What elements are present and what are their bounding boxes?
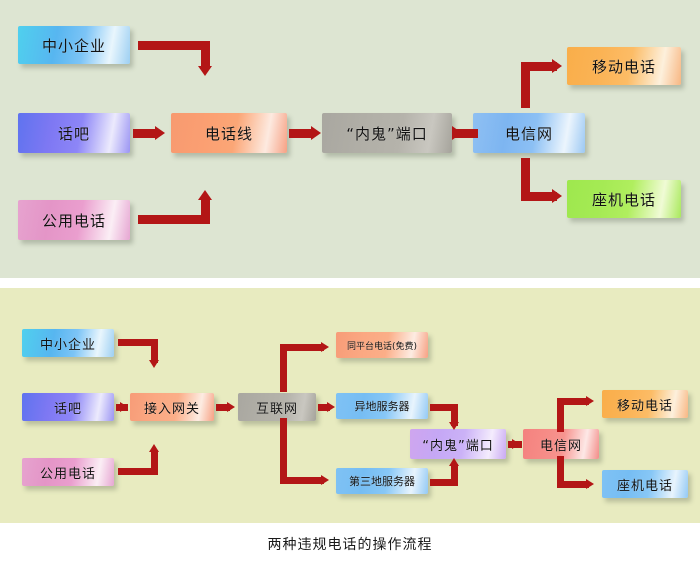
edge-huaba-to-gateway-arrow — [120, 402, 128, 412]
node-disandi-fuwuqi[interactable]: 第三地服务器 — [336, 468, 428, 494]
node-label: 电话线 — [205, 123, 253, 144]
node-yidongdianhua-bottom[interactable]: 移动电话 — [602, 390, 688, 418]
node-label: 公用电话 — [42, 210, 106, 231]
edge-sme-to-line-vertical — [201, 41, 210, 69]
node-label: 中小企业 — [40, 334, 96, 353]
node-dianxinwang-top[interactable]: 电信网 — [473, 113, 585, 153]
node-jieruwangguan[interactable]: 接入网关 — [130, 393, 214, 421]
node-label: 话吧 — [58, 123, 90, 144]
edge-telnet-to-mobile-horizontal-bottom — [557, 398, 589, 405]
edge-public-to-gateway-arrow — [149, 444, 159, 452]
edge-huaba-to-line-arrow — [155, 126, 165, 140]
node-zuojidianhua-top[interactable]: 座机电话 — [567, 180, 681, 218]
node-label: 座机电话 — [617, 475, 673, 494]
node-yidongdianhua-top[interactable]: 移动电话 — [567, 47, 681, 85]
node-yidi-fuwuqi[interactable]: 异地服务器 — [336, 393, 428, 419]
edge-internet-to-sameplat-vertical — [280, 344, 287, 392]
edge-sme-to-gateway-arrow — [149, 360, 159, 368]
node-label: “内鬼”端口 — [346, 123, 428, 144]
node-label: 电信网 — [540, 435, 582, 454]
node-huaba-bottom[interactable]: 话吧 — [22, 393, 114, 421]
bottom-flow-panel: 中小企业 话吧 公用电话 接入网关 互联网 同平台电话(免费) 异地服务器 第三… — [0, 288, 700, 523]
edge-port-to-telnet-arrow-bottom — [512, 439, 520, 449]
edge-gateway-to-internet-arrow — [227, 402, 235, 412]
node-gongyongdianhua-top[interactable]: 公用电话 — [18, 200, 130, 240]
top-flow-panel: 中小企业 话吧 公用电话 电话线 “内鬼”端口 电信网 移动电话 座机电话 — [0, 0, 700, 278]
node-label: 第三地服务器 — [349, 473, 415, 489]
edge-telnet-to-landline-horizontal-bottom — [557, 481, 589, 488]
edge-line-to-port-arrow — [311, 126, 321, 140]
node-label: “内鬼”端口 — [422, 435, 493, 454]
edge-telnet-to-mobile-arrow-bottom — [586, 396, 594, 406]
node-dianxinwang-bottom[interactable]: 电信网 — [523, 429, 599, 459]
edge-huaba-to-line-segment — [133, 129, 157, 138]
node-label: 异地服务器 — [355, 398, 410, 414]
edge-public-to-line-arrow — [198, 190, 212, 200]
edge-public-to-gateway-vertical — [151, 450, 158, 475]
node-huaba-top[interactable]: 话吧 — [18, 113, 130, 153]
edge-line-to-port-segment — [289, 129, 313, 138]
node-dianhuaxian-top[interactable]: 电话线 — [171, 113, 287, 153]
edge-telnet-to-landline-arrow — [552, 189, 562, 203]
edge-internet-to-sameplat-horizontal — [280, 344, 324, 351]
edge-internet-to-remote-arrow — [327, 402, 335, 412]
node-label: 同平台电话(免费) — [347, 339, 417, 352]
node-zuojidianhua-bottom[interactable]: 座机电话 — [602, 470, 688, 498]
edge-telnet-to-landline-arrow-bottom — [586, 479, 594, 489]
node-gongyongdianhua-bottom[interactable]: 公用电话 — [22, 458, 114, 486]
edge-sme-to-line-horizontal — [138, 41, 210, 50]
node-label: 公用电话 — [40, 463, 96, 482]
node-label: 座机电话 — [592, 189, 656, 210]
node-label: 互联网 — [256, 398, 298, 417]
node-zhongxiaoqiye-bottom[interactable]: 中小企业 — [22, 329, 114, 357]
node-label: 话吧 — [54, 398, 82, 417]
node-hulianwang[interactable]: 互联网 — [238, 393, 316, 421]
node-label: 移动电话 — [592, 56, 656, 77]
edge-internet-to-third-vertical — [280, 418, 287, 480]
node-label: 中小企业 — [42, 35, 106, 56]
edge-remote-to-port-arrow — [449, 422, 459, 430]
edge-third-to-port-vertical — [451, 464, 458, 486]
edge-public-to-line-horizontal — [138, 215, 210, 224]
edge-sme-to-line-arrow — [198, 66, 212, 76]
edge-public-to-line-vertical — [201, 198, 210, 224]
node-label: 电信网 — [505, 123, 553, 144]
edge-port-to-telnet-arrow — [452, 126, 462, 140]
edge-third-to-port-arrow — [449, 458, 459, 466]
edge-internet-to-third-horizontal — [280, 477, 324, 484]
edge-internet-to-third-arrow — [321, 475, 329, 485]
node-neigui-duankou-bottom[interactable]: “内鬼”端口 — [410, 429, 506, 459]
edge-telnet-to-mobile-arrow — [552, 59, 562, 73]
edge-internet-to-sameplat-arrow — [321, 342, 329, 352]
diagram-caption: 两种违规电话的操作流程 — [0, 534, 700, 554]
node-label: 接入网关 — [144, 398, 200, 417]
node-zhongxiaoqiye-top[interactable]: 中小企业 — [18, 26, 130, 64]
node-tongpingtai-dianhua[interactable]: 同平台电话(免费) — [336, 332, 428, 358]
node-label: 移动电话 — [617, 395, 673, 414]
node-neigui-duankou-top[interactable]: “内鬼”端口 — [322, 113, 452, 153]
